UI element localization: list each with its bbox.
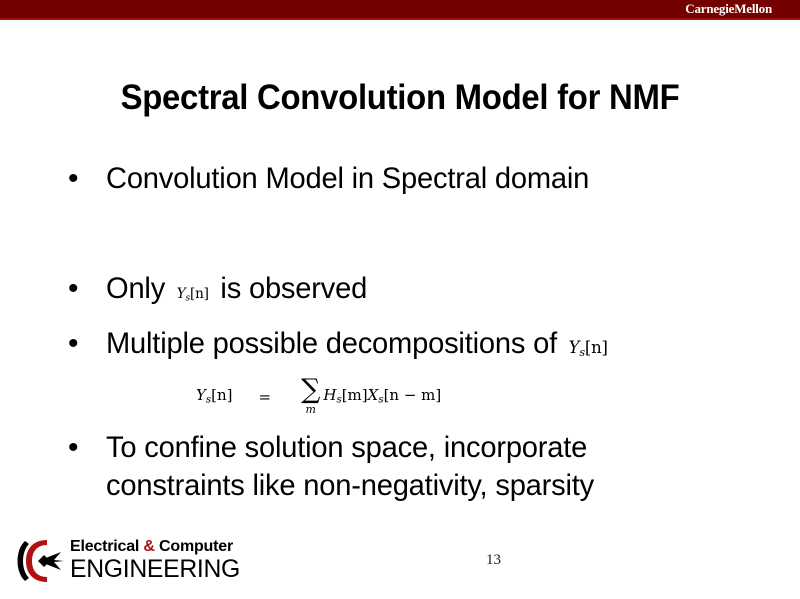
- inline-math-ysn: Ys[n]: [177, 286, 209, 302]
- top-banner-edge: [0, 18, 800, 20]
- bullet-text-2: OnlyYs[n]is observed: [106, 270, 779, 317]
- bullet-text-4: To confine solution space, incorporate c…: [106, 429, 688, 505]
- inline-math-ysn: Ys[n]: [569, 338, 608, 358]
- page-title: Spectral Convolution Model for NMF: [24, 77, 776, 119]
- bullet-text-3: Multiple possible decompositions ofYs[n]: [106, 325, 779, 371]
- sigma-icon: ∑: [301, 377, 320, 403]
- carnegie-mellon-wordmark: CarnegieMellon: [685, 1, 772, 17]
- ece-line-1: Electrical & Computer: [70, 538, 230, 556]
- slide-body: • Convolution Model in Spectral domain Y…: [0, 160, 800, 505]
- ampersand-icon: &: [143, 538, 154, 555]
- summation-symbol: ∑ m: [301, 377, 320, 415]
- bullet-item-2: • OnlyYs[n]is observed: [0, 270, 800, 317]
- ece-line-2: ENGINEERING: [70, 556, 228, 582]
- top-banner: [0, 0, 800, 18]
- equation-relation: =: [259, 390, 272, 405]
- bullet-marker-icon: •: [68, 325, 106, 363]
- bullet-marker-icon: •: [68, 270, 106, 308]
- ece-logo-text: Electrical & Computer ENGINEERING: [70, 538, 230, 582]
- ece-logo: Electrical & Computer ENGINEERING: [14, 536, 224, 586]
- equation-lhs: Ys[n]: [196, 388, 233, 406]
- bullet-text-1: Convolution Model in Spectral domain: [106, 160, 779, 198]
- ece-emblem-icon: [14, 538, 66, 584]
- bullet-item-4: • To confine solution space, incorporate…: [0, 429, 800, 505]
- bullet-marker-icon: •: [68, 429, 106, 467]
- equation-rhs: Hs[m]Xs[n − m]: [323, 388, 441, 406]
- bullet-item-3: • Multiple possible decompositions ofYs[…: [0, 325, 800, 371]
- page-number: 13: [486, 551, 501, 569]
- bullet-item-1: • Convolution Model in Spectral domain: [0, 160, 800, 198]
- bullet-marker-icon: •: [68, 160, 106, 198]
- summation-index: m: [306, 404, 316, 415]
- display-equation: Ys[n] = ∑ m Hs[m]Xs[n − m]: [196, 378, 441, 416]
